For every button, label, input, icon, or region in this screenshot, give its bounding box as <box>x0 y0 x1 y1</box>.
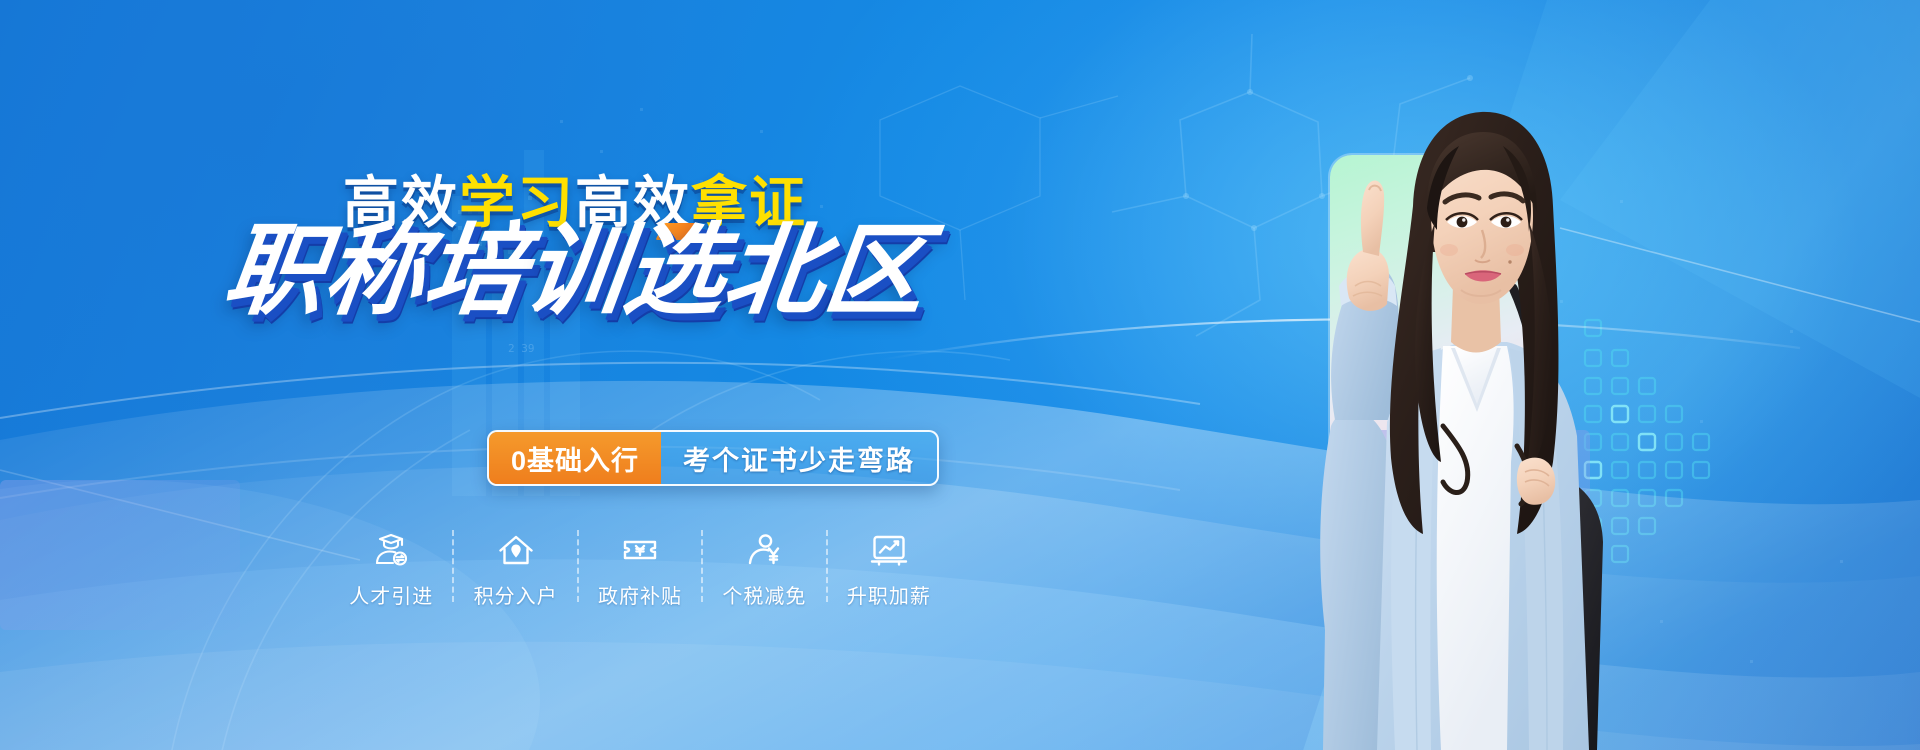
feature-item-tax-reduction[interactable]: 个税减免 <box>703 528 825 609</box>
feature-item-government-subsidy[interactable]: 政府补贴 <box>579 528 701 609</box>
woman-pointing-up-illustration <box>1245 90 1675 750</box>
person-yuan-icon <box>742 528 786 572</box>
feature-list: 人才引进 积分入户 <box>330 528 950 609</box>
feature-item-promotion-raise[interactable]: 升职加薪 <box>828 528 950 609</box>
graduate-person-icon <box>369 528 413 572</box>
promo-banner: 2 39 <box>0 0 1920 750</box>
copy-block: 高效学习高效拿证 职称培训选北区 0基础入行 考个证书少走弯路 <box>0 0 1150 750</box>
feature-label: 政府补贴 <box>598 580 682 609</box>
subhead-badge: 0基础入行 考个证书少走弯路 <box>487 430 939 486</box>
house-pin-icon <box>494 528 538 572</box>
feature-label: 积分入户 <box>474 580 558 609</box>
headline-main-char-4: 选 <box>618 215 732 327</box>
headline-main-char-3: 训 <box>518 215 632 327</box>
growth-chart-icon <box>867 528 911 572</box>
headline-main-char-5: 北 <box>718 215 832 327</box>
headline-main-char-1: 称 <box>318 215 432 327</box>
feature-label: 升职加薪 <box>847 580 931 609</box>
feature-label: 人才引进 <box>349 580 433 609</box>
person-photo <box>1245 90 1675 750</box>
headline-main-char-6: 区 <box>818 215 932 327</box>
feature-item-talent-intro[interactable]: 人才引进 <box>330 528 452 609</box>
feature-label: 个税减免 <box>722 580 806 609</box>
headline-main: 职称培训选北区 <box>0 215 1150 327</box>
headline-main-char-2: 培 <box>418 215 532 327</box>
badge-right-label: 考个证书少走弯路 <box>661 432 937 484</box>
badge-left-label: 0基础入行 <box>489 432 661 484</box>
coupon-yuan-icon <box>618 528 662 572</box>
feature-item-points-residency[interactable]: 积分入户 <box>454 528 576 609</box>
headline-main-char-0: 职 <box>218 215 332 327</box>
